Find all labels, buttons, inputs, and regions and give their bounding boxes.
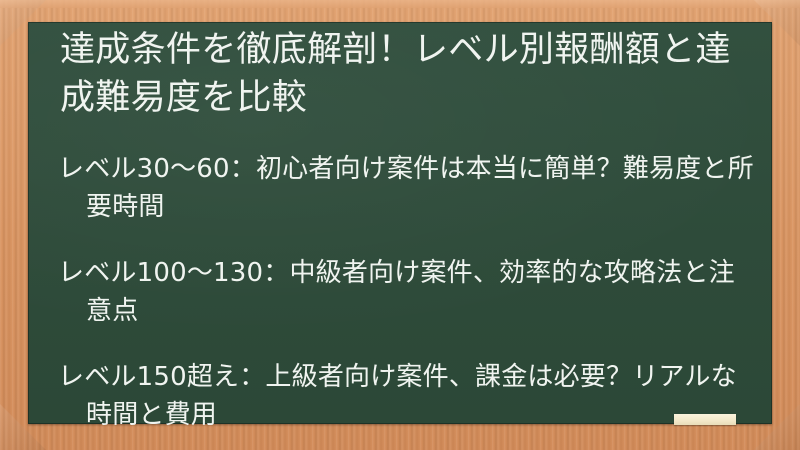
page-title: 達成条件を徹底解剖！レベル別報酬額と達成難易度を比較 [60,26,746,122]
chalk-eraser [674,414,736,425]
list-item: レベル150超え：上級者向け案件、課金は必要？リアルな時間と費用 [58,358,758,434]
frame-top-highlight [0,0,800,8]
list-item: レベル30〜60：初心者向け案件は本当に簡単？難易度と所要時間 [58,150,758,226]
topic-list: レベル30〜60：初心者向け案件は本当に簡単？難易度と所要時間 レベル100〜1… [58,150,758,434]
chalkboard-surface: 達成条件を徹底解剖！レベル別報酬額と達成難易度を比較 レベル30〜60：初心者向… [28,22,772,424]
list-item: レベル100〜130：中級者向け案件、効率的な攻略法と注意点 [58,254,758,330]
chalkboard-slide: 達成条件を徹底解剖！レベル別報酬額と達成難易度を比較 レベル30〜60：初心者向… [0,0,800,450]
